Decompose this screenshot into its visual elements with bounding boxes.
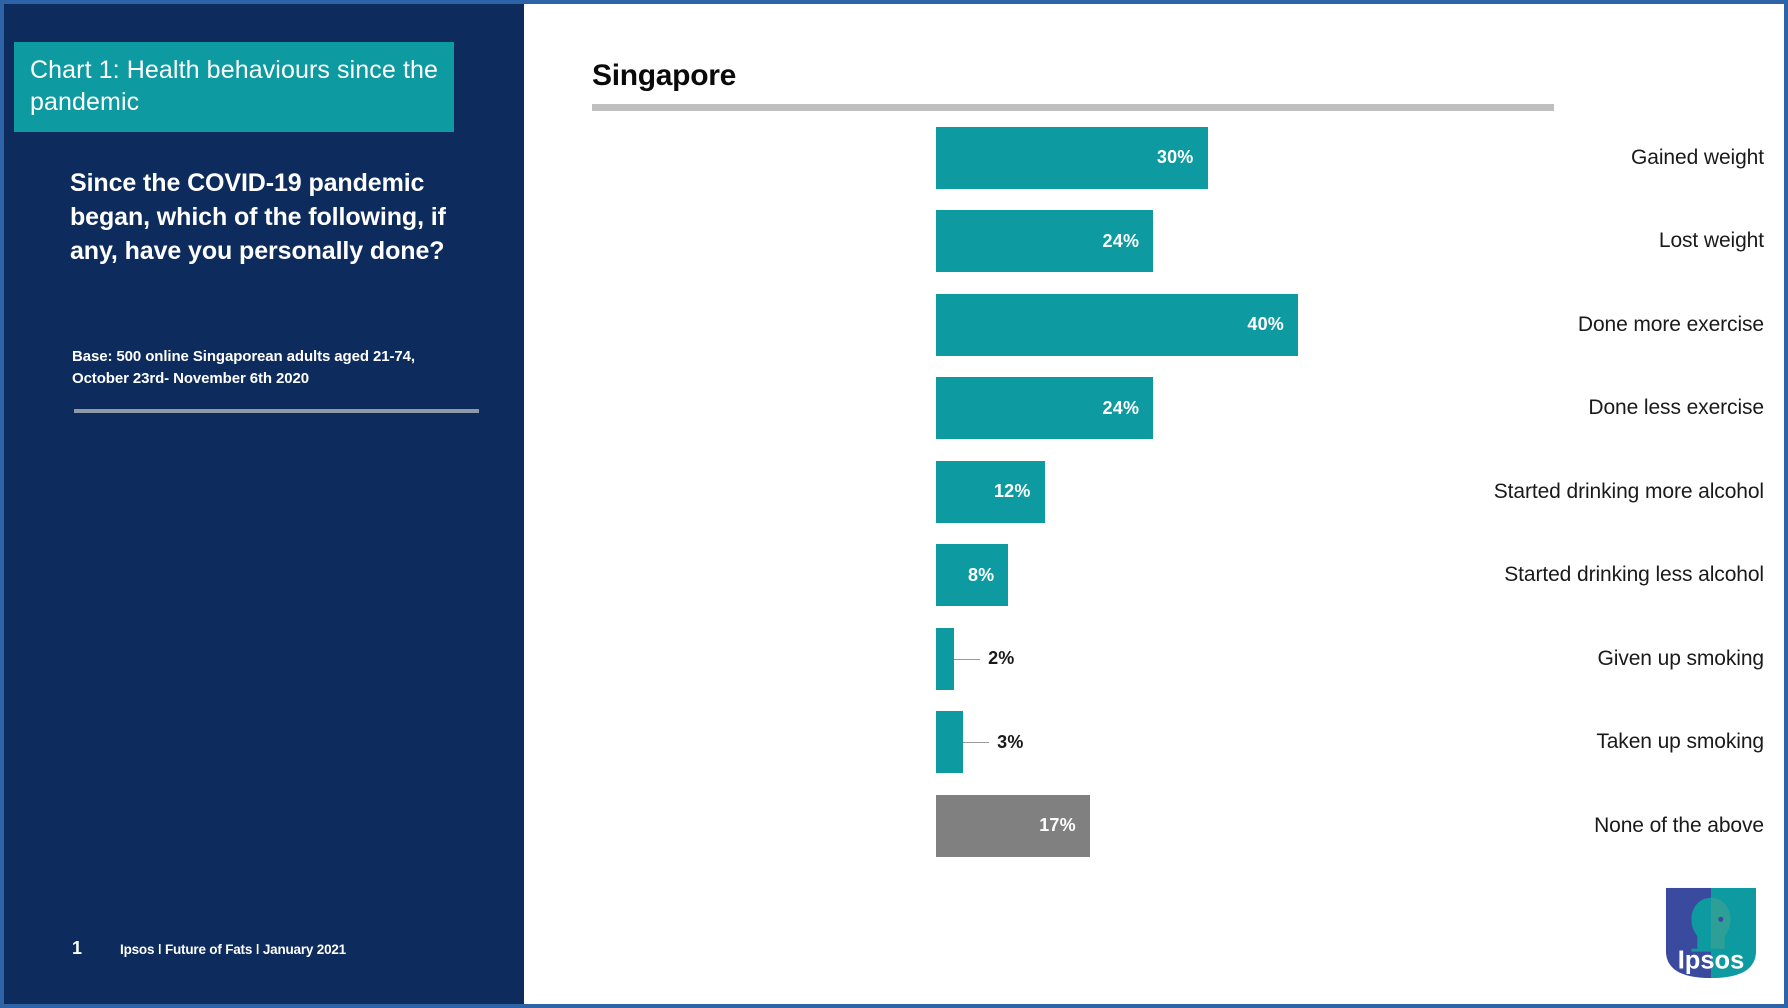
bar-row: Done less exercise24% <box>524 367 1788 451</box>
bar-chart: Gained weight30%Lost weight24%Done more … <box>524 116 1788 916</box>
base-divider <box>74 409 479 413</box>
bar[interactable] <box>936 711 963 773</box>
chart-banner: Chart 1: Health behaviours since the pan… <box>14 42 454 132</box>
ipsos-logo-text: Ipsos <box>1678 946 1745 974</box>
bar-row: Taken up smoking3% <box>524 701 1788 785</box>
chart-banner-label: Chart 1: Health behaviours since the pan… <box>30 54 438 118</box>
bar-track: 24% <box>936 200 1788 284</box>
bar-value-label: 30% <box>1157 147 1208 168</box>
slide-canvas: Chart 1: Health behaviours since the pan… <box>0 0 1788 1008</box>
bar-track: 30% <box>936 116 1788 200</box>
left-panel: Chart 1: Health behaviours since the pan… <box>4 4 524 1004</box>
bar[interactable]: 8% <box>936 544 1008 606</box>
page-number: 1 <box>72 938 82 959</box>
bar[interactable] <box>936 628 954 690</box>
bar-value-label: 40% <box>1247 314 1298 335</box>
bar-row: Given up smoking2% <box>524 617 1788 701</box>
bar-row: Started drinking more alcohol12% <box>524 450 1788 534</box>
bar-track: 12% <box>936 450 1788 534</box>
chart-area: Singapore Gained weight30%Lost weight24%… <box>524 4 1784 1004</box>
bar[interactable]: 12% <box>936 461 1045 523</box>
bar-row: None of the above17% <box>524 784 1788 868</box>
base-block: Base: 500 online Singaporean adults aged… <box>72 346 472 390</box>
bar[interactable]: 24% <box>936 210 1153 272</box>
chart-title-divider <box>592 104 1554 111</box>
footer-caption: Ipsos ǀ Future of Fats ǀ January 2021 <box>120 942 346 957</box>
bar-leader-line <box>963 742 989 743</box>
base-description: Base: 500 online Singaporean adults aged… <box>72 346 472 390</box>
bar[interactable]: 24% <box>936 377 1153 439</box>
bar-value-label: 2% <box>988 648 1014 669</box>
bar[interactable]: 40% <box>936 294 1298 356</box>
bar-track: 3% <box>936 701 1788 785</box>
bar-track: 17% <box>936 784 1788 868</box>
bar-value-label: 24% <box>1103 398 1154 419</box>
bar-row: Gained weight30% <box>524 116 1788 200</box>
bar[interactable]: 17% <box>936 795 1090 857</box>
bar-row: Lost weight24% <box>524 200 1788 284</box>
bar-track: 2% <box>936 617 1788 701</box>
bar-value-label: 12% <box>994 481 1045 502</box>
ipsos-logo: Ipsos <box>1662 884 1760 982</box>
bar-leader-line <box>954 659 980 660</box>
bar-track: 40% <box>936 283 1788 367</box>
bar-track: 24% <box>936 367 1788 451</box>
survey-question: Since the COVID-19 pandemic began, which… <box>70 166 490 268</box>
question-block: Since the COVID-19 pandemic began, which… <box>70 166 490 268</box>
bar-value-label: 3% <box>997 732 1023 753</box>
bar-row: Done more exercise40% <box>524 283 1788 367</box>
bar[interactable]: 30% <box>936 127 1208 189</box>
bar-value-label: 17% <box>1039 815 1090 836</box>
bar-track: 8% <box>936 534 1788 618</box>
footer: 1 Ipsos ǀ Future of Fats ǀ January 2021 <box>72 938 346 959</box>
chart-title: Singapore <box>592 59 736 93</box>
bar-value-label: 8% <box>968 565 1008 586</box>
bar-value-label: 24% <box>1103 231 1154 252</box>
bar-row: Started drinking less alcohol8% <box>524 534 1788 618</box>
